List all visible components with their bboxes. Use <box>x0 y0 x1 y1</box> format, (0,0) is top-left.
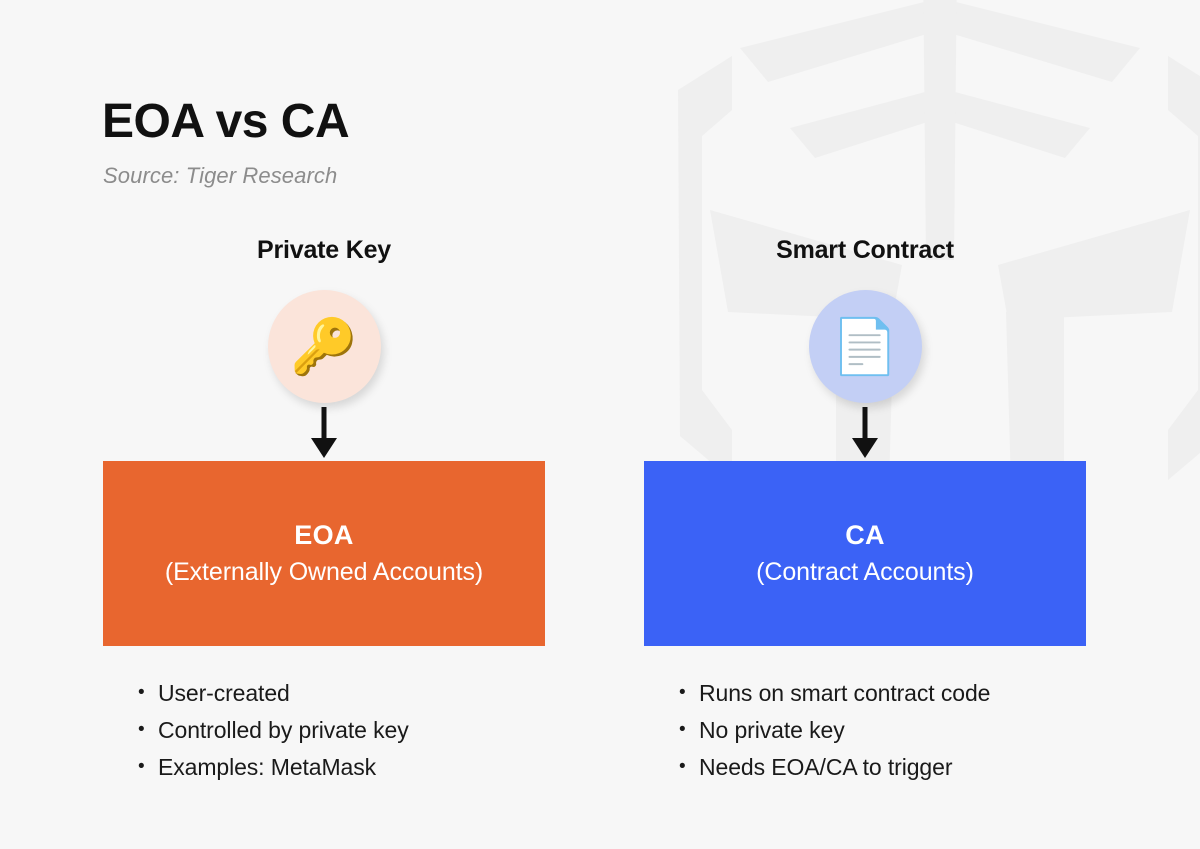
bullet-marker: • <box>138 719 158 741</box>
arrow-down-icon <box>309 407 339 459</box>
concept-box-eoa: EOA (Externally Owned Accounts) <box>103 461 545 646</box>
list-item-label: User-created <box>158 682 290 705</box>
bullet-marker: • <box>138 682 158 704</box>
list-item-label: Needs EOA/CA to trigger <box>699 756 952 779</box>
list-item: • Controlled by private key <box>138 719 545 742</box>
column-header-private-key: Private Key <box>103 236 545 270</box>
concept-box-abbr-ca: CA <box>845 520 885 551</box>
source-attribution: Source: Tiger Research <box>103 163 337 189</box>
list-item: • User-created <box>138 682 545 705</box>
key-icon: 🔑 <box>290 320 357 374</box>
document-icon: 📄 <box>831 320 898 374</box>
page-title: EOA vs CA <box>102 96 349 149</box>
list-item-label: Runs on smart contract code <box>699 682 990 705</box>
key-icon-circle: 🔑 <box>268 290 381 403</box>
icon-wrap-smart-contract: 📄 <box>644 290 1086 403</box>
list-item-label: Examples: MetaMask <box>158 756 376 779</box>
list-item: • Needs EOA/CA to trigger <box>679 756 1086 779</box>
list-item-label: Controlled by private key <box>158 719 409 742</box>
arrow-down-icon <box>850 407 880 459</box>
list-item: • No private key <box>679 719 1086 742</box>
bullet-marker: • <box>679 756 699 778</box>
column-header-smart-contract: Smart Contract <box>644 236 1086 270</box>
bullet-list-eoa: • User-created • Controlled by private k… <box>103 682 545 779</box>
concept-box-abbr-eoa: EOA <box>294 520 353 551</box>
document-icon-circle: 📄 <box>809 290 922 403</box>
list-item-label: No private key <box>699 719 845 742</box>
column-eoa: Private Key 🔑 EOA (Externally Owned Acco… <box>103 236 545 793</box>
list-item: • Runs on smart contract code <box>679 682 1086 705</box>
concept-box-ca: CA (Contract Accounts) <box>644 461 1086 646</box>
bullet-marker: • <box>679 719 699 741</box>
bullet-list-ca: • Runs on smart contract code • No priva… <box>644 682 1086 779</box>
column-ca: Smart Contract 📄 CA (Contract Accounts) … <box>644 236 1086 793</box>
concept-box-full-eoa: (Externally Owned Accounts) <box>165 558 483 587</box>
icon-wrap-private-key: 🔑 <box>103 290 545 403</box>
concept-box-full-ca: (Contract Accounts) <box>756 558 974 587</box>
arrow-wrap-ca <box>644 407 1086 459</box>
arrow-wrap-eoa <box>103 407 545 459</box>
bullet-marker: • <box>138 756 158 778</box>
bullet-marker: • <box>679 682 699 704</box>
list-item: • Examples: MetaMask <box>138 756 545 779</box>
